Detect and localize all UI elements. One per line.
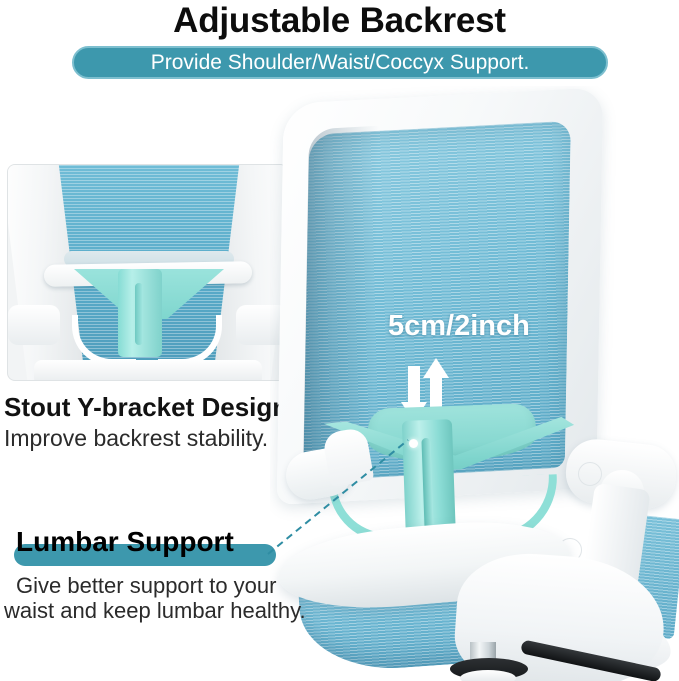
closeup-caption-subtitle: Improve backrest stability. (4, 425, 268, 452)
closeup-caption-title: Stout Y-bracket Design (4, 392, 288, 423)
frame-screw-upper (578, 462, 602, 486)
subtitle-banner: Provide Shoulder/Waist/Coccyx Support. (72, 46, 608, 79)
chair-product-photo: 5cm/2inch (270, 86, 679, 681)
measurement-label: 5cm/2inch (388, 310, 530, 343)
subtitle-banner-label: Provide Shoulder/Waist/Coccyx Support. (74, 48, 606, 77)
inset-knob-left (8, 305, 60, 345)
inset-y-bracket-rib (135, 283, 143, 345)
closeup-inset-photo (8, 165, 287, 380)
lumbar-caption-line-1: Give better support to your (16, 573, 276, 599)
inset-frame-bottom (34, 360, 262, 380)
lumbar-caption-line-2: waist and keep lumbar healthy. (4, 598, 306, 624)
leader-anchor-dot (409, 439, 418, 448)
product-infographic: Adjustable Backrest Provide Shoulder/Wai… (0, 0, 679, 681)
lumbar-caption-title: Lumbar Support (16, 526, 234, 558)
base-collar (460, 670, 516, 681)
page-title: Adjustable Backrest (0, 0, 679, 42)
